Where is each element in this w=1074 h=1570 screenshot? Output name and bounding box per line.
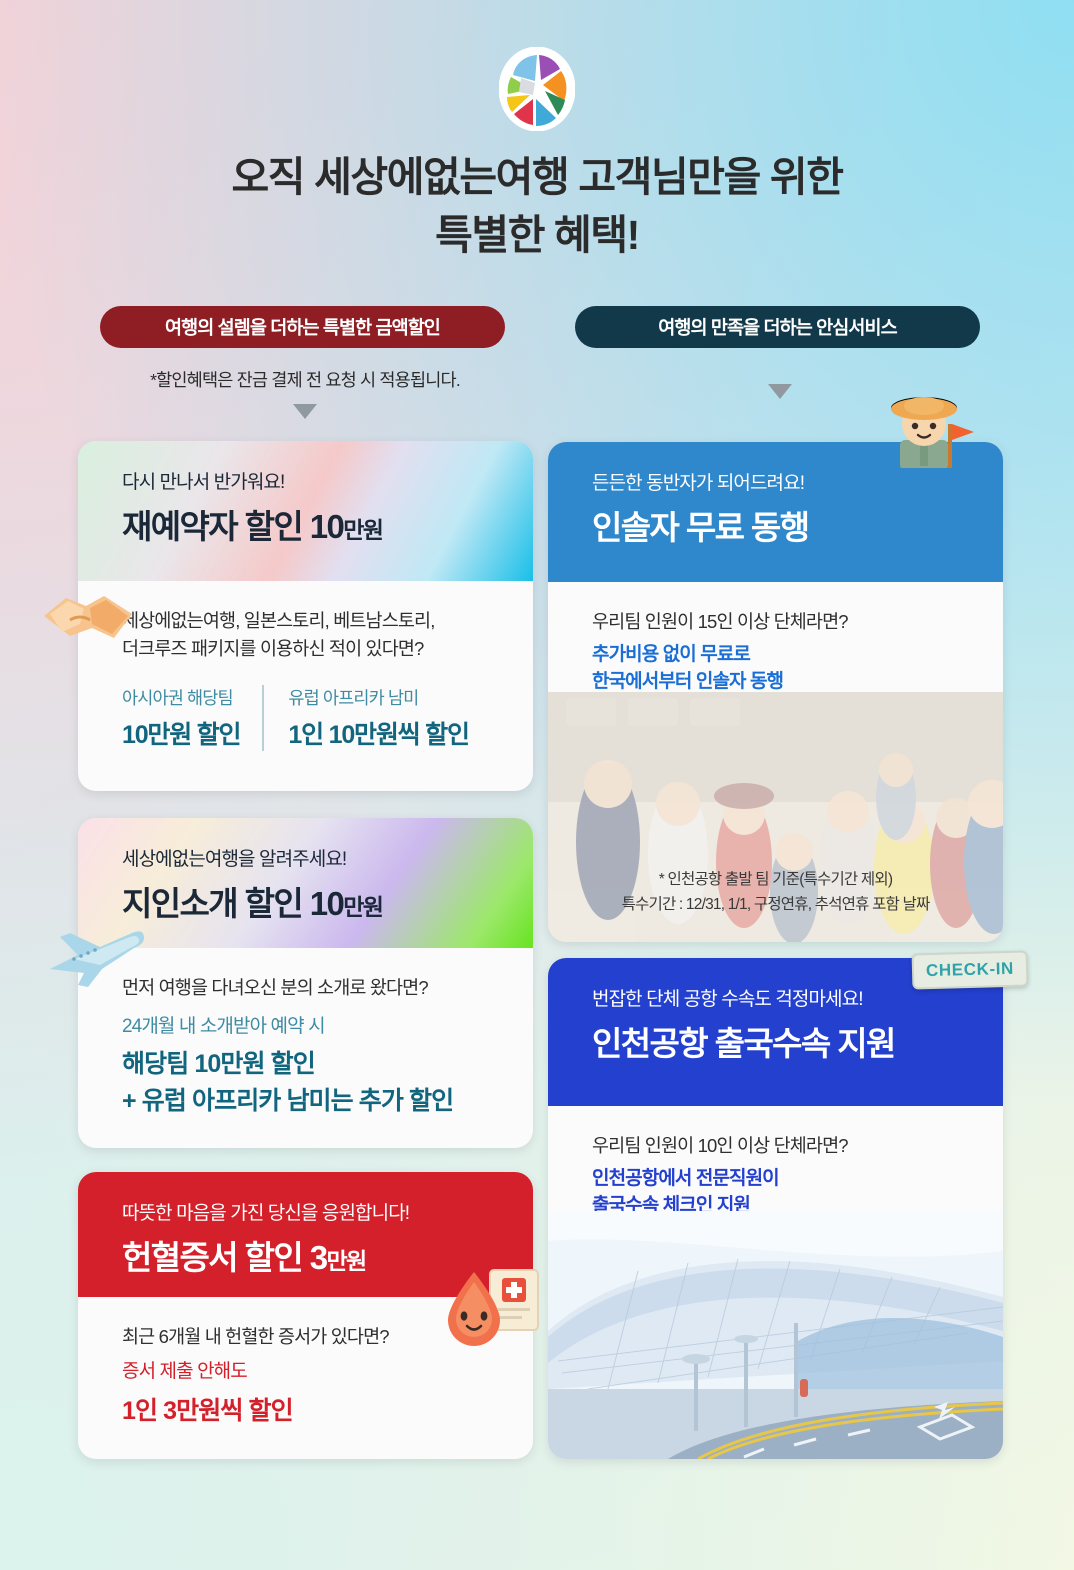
card-blood-header: 따뜻한 마음을 가진 당신을 응원합니다! 헌혈증서 할인 3만원 [78,1172,533,1297]
card-referral-title-unit: 만원 [343,894,382,920]
card-airport-checkin-support[interactable]: 번잡한 단체 공항 수속도 걱정마세요! 인천공항 출국수속 지원 우리팀 인원… [548,958,1003,1459]
incheon-airport-terminal-photo [548,1211,1003,1459]
card-referral-highlight-2: 해당팀 10만원 할인 [122,1047,533,1083]
card-reorder-col-longhaul-label: 유럽 아프리카 남미 [288,685,468,710]
card-reorder-col-asia: 아시아권 해당팀 10만원 할인 [122,685,262,751]
card-blood-body: 최근 6개월 내 헌혈한 증서가 있다면? 증서 제출 안해도 1인 3만원씩 … [78,1297,533,1457]
card-free-escort[interactable]: 든든한 동반자가 되어드려요! 인솔자 무료 동행 우리팀 인원이 15인 이상… [548,442,1003,942]
card-blood-question: 최근 6개월 내 헌혈한 증서가 있다면? [122,1323,533,1351]
card-reorder-discount-table: 아시아권 해당팀 10만원 할인 유럽 아프리카 남미 1인 10만원씩 할인 [122,685,533,751]
card-referral-question: 먼저 여행을 다녀오신 분의 소개로 왔다면? [122,974,533,1002]
card-referral-title-text: 지인소개 할인 10 [122,885,343,922]
card-blood-donation-discount[interactable]: 따뜻한 마음을 가진 당신을 응원합니다! 헌혈증서 할인 3만원 최근 6개월… [78,1172,533,1459]
card-reorder-question-line1: 세상에없는여행, 일본스토리, 베트남스토리, [122,607,533,635]
section-badge-services: 여행의 만족을 더하는 안심서비스 [575,306,980,348]
card-escort-subtitle: 든든한 동반자가 되어드려요! [592,468,1003,495]
card-reorder-header: 다시 만나서 반가워요! 재예약자 할인 10만원 [78,441,533,581]
card-referral-subtitle: 세상에없는여행을 알려주세요! [122,844,533,871]
page-title-line2: 특별한 혜택! [0,206,1074,264]
card-referral-body: 먼저 여행을 다녀오신 분의 소개로 왔다면? 24개월 내 소개받아 예약 시… [78,948,533,1148]
card-escort-footnote-line2: 특수기간 : 12/31, 1/1, 구정연휴, 추석연휴 포함 날짜 [548,893,1003,918]
card-reorder-col-asia-value: 10만원 할인 [122,715,240,751]
card-blood-subtitle: 따뜻한 마음을 가진 당신을 응원합니다! [122,1198,533,1225]
card-reorder-body: 세상에없는여행, 일본스토리, 베트남스토리, 더크루즈 패키지를 이용하신 적… [78,581,533,779]
card-airport-highlight-1: 인천공항에서 전문직원이 [592,1166,1003,1193]
card-escort-highlight-1: 추가비용 없이 무료로 [592,642,1003,669]
globe-mosaic-logo [499,47,575,131]
page-title: 오직 세상에없는여행 고객님만을 위한 특별한 혜택! [0,148,1074,264]
card-blood-title-unit: 만원 [326,1248,365,1274]
card-reorder-title: 재예약자 할인 10만원 [122,500,533,548]
card-escort-question: 우리팀 인원이 15인 이상 단체라면? [592,608,1003,636]
card-reorder-col-longhaul-value: 1인 10만원씩 할인 [288,715,468,751]
card-blood-highlight-2: 1인 3만원씩 할인 [122,1394,533,1430]
logo-container [0,47,1074,131]
card-reorder-title-text: 재예약자 할인 10 [122,508,343,545]
card-referral-header: 세상에없는여행을 알려주세요! 지인소개 할인 10만원 [78,818,533,948]
card-blood-title: 헌혈증서 할인 3만원 [122,1231,533,1279]
card-reorder-question-line2: 더크루즈 패키지를 이용하신 적이 있다면? [122,635,533,663]
card-referral-highlight-1: 24개월 내 소개받아 예약 시 [122,1014,533,1041]
section-badge-discounts: 여행의 설렘을 더하는 특별한 금액할인 [100,306,505,348]
card-referral-highlight-3: + 유럽 아프리카 남미는 추가 할인 [122,1084,533,1120]
page-title-line1: 오직 세상에없는여행 고객님만을 위한 [0,148,1074,206]
arrow-down-icon-left [293,404,317,419]
card-reorder-col-longhaul: 유럽 아프리카 남미 1인 10만원씩 할인 [262,685,490,751]
card-escort-footnote-line1: * 인천공항 출발 팀 기준(특수기간 제외) [548,868,1003,893]
arrow-down-icon-right [768,384,792,399]
card-airport-question: 우리팀 인원이 10인 이상 단체라면? [592,1132,1003,1160]
card-escort-header: 든든한 동반자가 되어드려요! 인솔자 무료 동행 [548,442,1003,582]
discount-note: *할인혜택은 잔금 결제 전 요청 시 적용됩니다. [60,367,550,392]
card-airport-title: 인천공항 출국수속 지원 [592,1017,1003,1065]
card-reorder-col-asia-label: 아시아권 해당팀 [122,685,240,710]
card-referral-title: 지인소개 할인 10만원 [122,877,533,925]
card-reorder-subtitle: 다시 만나서 반가워요! [122,467,533,494]
card-referral-discount[interactable]: 세상에없는여행을 알려주세요! 지인소개 할인 10만원 먼저 여행을 다녀오신… [78,818,533,1148]
card-escort-body: 우리팀 인원이 15인 이상 단체라면? 추가비용 없이 무료로 한국에서부터 … [548,582,1003,710]
card-airport-subtitle: 번잡한 단체 공항 수속도 걱정마세요! [592,984,1003,1011]
card-reorder-discount[interactable]: 다시 만나서 반가워요! 재예약자 할인 10만원 세상에없는여행, 일본스토리… [78,441,533,791]
card-blood-title-text: 헌혈증서 할인 3 [122,1239,326,1276]
card-reorder-title-unit: 만원 [343,517,382,543]
card-escort-footnote: * 인천공항 출발 팀 기준(특수기간 제외) 특수기간 : 12/31, 1/… [548,868,1003,918]
card-escort-title: 인솔자 무료 동행 [592,501,1003,549]
card-airport-header: 번잡한 단체 공항 수속도 걱정마세요! 인천공항 출국수속 지원 [548,958,1003,1106]
card-blood-highlight-1: 증서 제출 안해도 [122,1359,533,1386]
